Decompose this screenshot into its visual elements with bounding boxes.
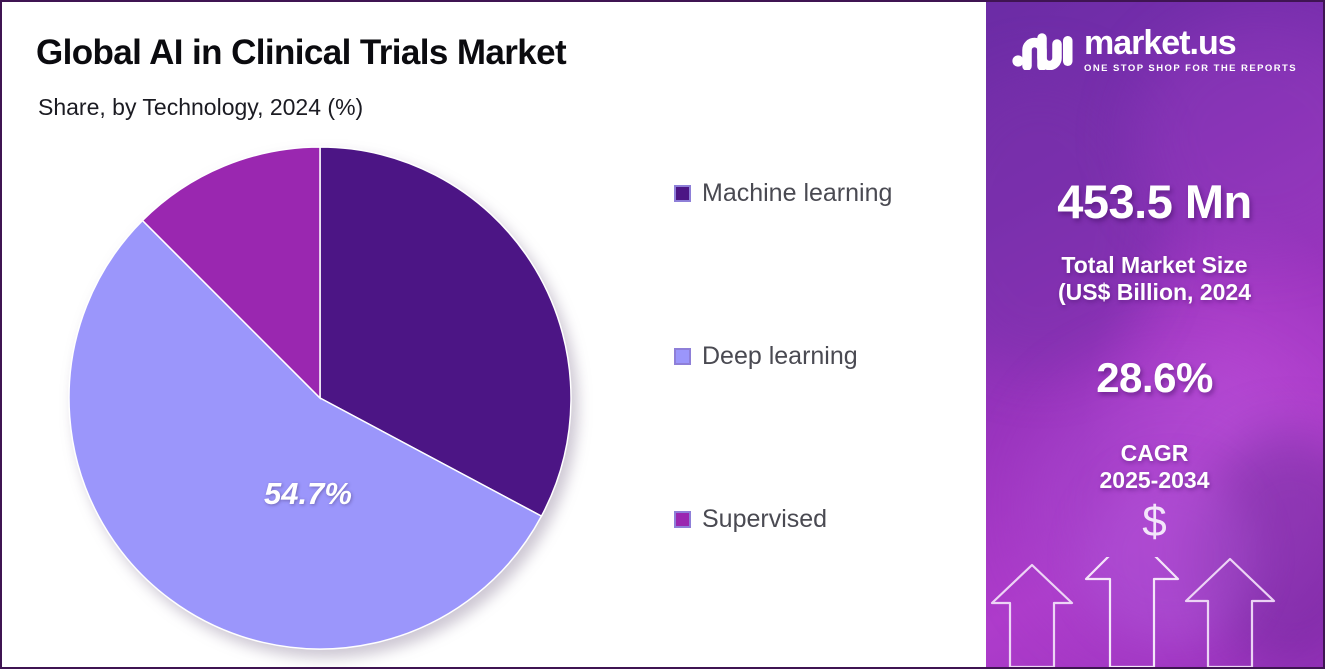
- chart-panel: Global AI in Clinical Trials Market Shar…: [2, 2, 990, 667]
- legend-swatch-icon: [674, 185, 691, 202]
- legend-item-deep-learning[interactable]: Deep learning: [674, 325, 974, 387]
- legend-item-machine-learning[interactable]: Machine learning: [674, 162, 974, 224]
- pie-chart-svg: [68, 146, 572, 650]
- dollar-sign-icon: $: [986, 500, 1323, 544]
- brand-logo[interactable]: market.us ONE STOP SHOP FOR THE REPORTS: [1012, 26, 1297, 74]
- brand-name: market.us: [1084, 26, 1297, 60]
- cagr-label: CAGR2025-2034: [986, 440, 1323, 494]
- page-title: Global AI in Clinical Trials Market: [36, 33, 566, 73]
- stats-panel: market.us ONE STOP SHOP FOR THE REPORTS …: [986, 2, 1323, 667]
- legend-swatch-icon: [674, 348, 691, 365]
- legend-label-deep-learning: Deep learning: [702, 342, 858, 371]
- legend-swatch-icon: [674, 511, 691, 528]
- brand-tagline: ONE STOP SHOP FOR THE REPORTS: [1084, 63, 1297, 74]
- legend-label-supervised: Supervised: [702, 505, 827, 534]
- market-us-logo-icon: [1012, 28, 1074, 70]
- cagr-value: 28.6%: [986, 354, 1323, 402]
- legend-label-machine-learning: Machine learning: [702, 179, 892, 208]
- legend-item-supervised[interactable]: Supervised: [674, 488, 974, 550]
- chart-legend: Machine learning Deep learning Supervise…: [674, 162, 974, 651]
- pie-chart: 54.7%: [68, 146, 572, 650]
- page-subtitle: Share, by Technology, 2024 (%): [38, 94, 363, 121]
- growth-arrows-icon: [986, 557, 1323, 667]
- market-size-label: Total Market Size(US$ Billion, 2024: [986, 252, 1323, 306]
- market-size-value: 453.5 Mn: [986, 174, 1323, 229]
- infographic-root: Global AI in Clinical Trials Market Shar…: [0, 0, 1325, 669]
